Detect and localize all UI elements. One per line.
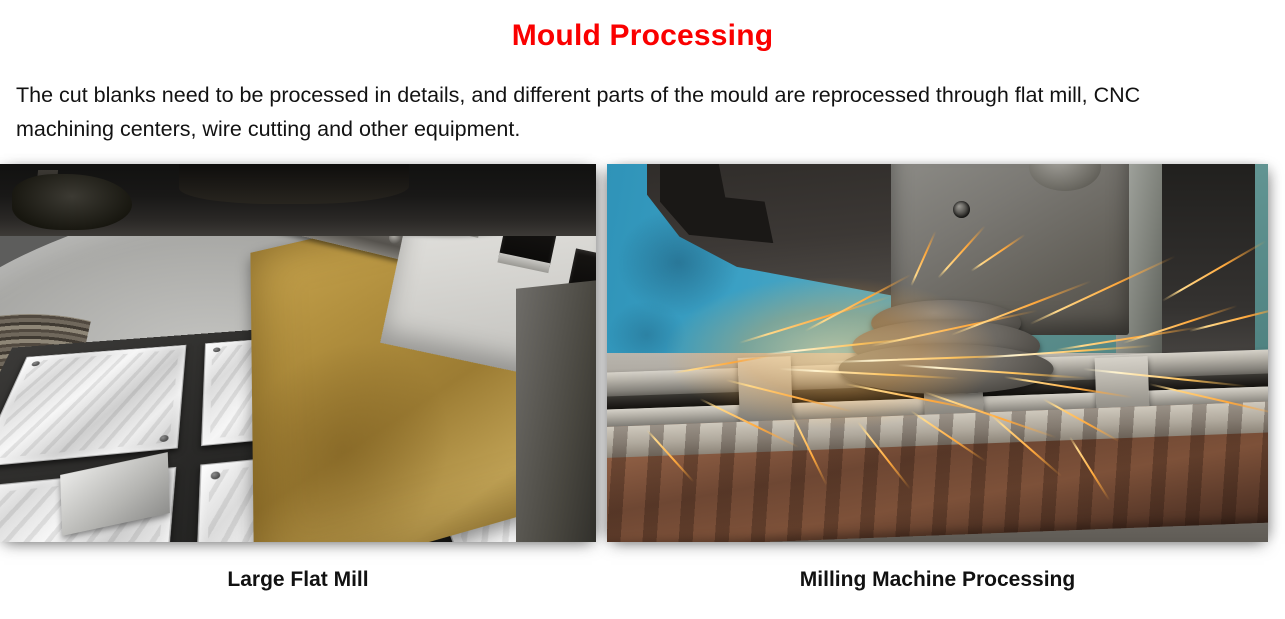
cutter-disc-stack xyxy=(839,300,1054,388)
caption-milling-machine-processing: Milling Machine Processing xyxy=(607,568,1268,592)
photo-milling-machine-processing xyxy=(607,164,1268,542)
plate-grind-marks xyxy=(0,350,179,459)
photo-large-flat-mill xyxy=(0,164,596,542)
cutter-disc xyxy=(839,344,1054,394)
figure-milling-machine-processing[interactable] xyxy=(607,164,1268,542)
mould-plate xyxy=(0,345,186,468)
overhead-machine-beam xyxy=(179,164,409,204)
page-title: Mould Processing xyxy=(0,18,1285,54)
caption-large-flat-mill: Large Flat Mill xyxy=(0,568,596,592)
page-root: Mould Processing The cut blanks need to … xyxy=(0,0,1285,619)
machine-column xyxy=(516,279,596,542)
housing-cap xyxy=(1029,164,1101,191)
intro-paragraph: The cut blanks need to be processed in d… xyxy=(16,78,1231,146)
figure-large-flat-mill[interactable] xyxy=(0,164,596,542)
housing-bolt xyxy=(953,201,970,218)
figure-row xyxy=(0,164,1285,542)
